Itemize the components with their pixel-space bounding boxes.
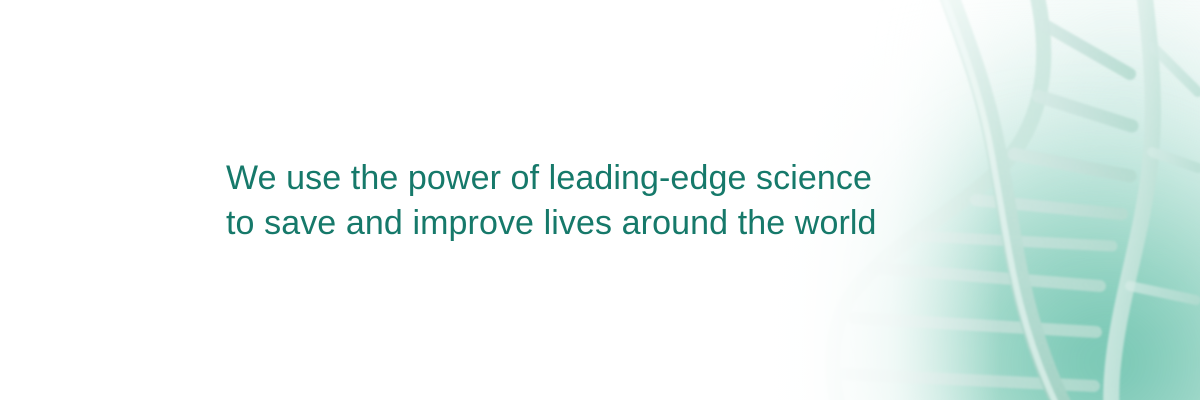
- page-title: We use the power of leading-edge science…: [226, 156, 877, 246]
- hero-banner: We use the power of leading-edge science…: [0, 0, 1200, 400]
- headline-line-2: to save and improve lives around the wor…: [226, 201, 877, 246]
- headline-line-1: We use the power of leading-edge science: [226, 156, 877, 201]
